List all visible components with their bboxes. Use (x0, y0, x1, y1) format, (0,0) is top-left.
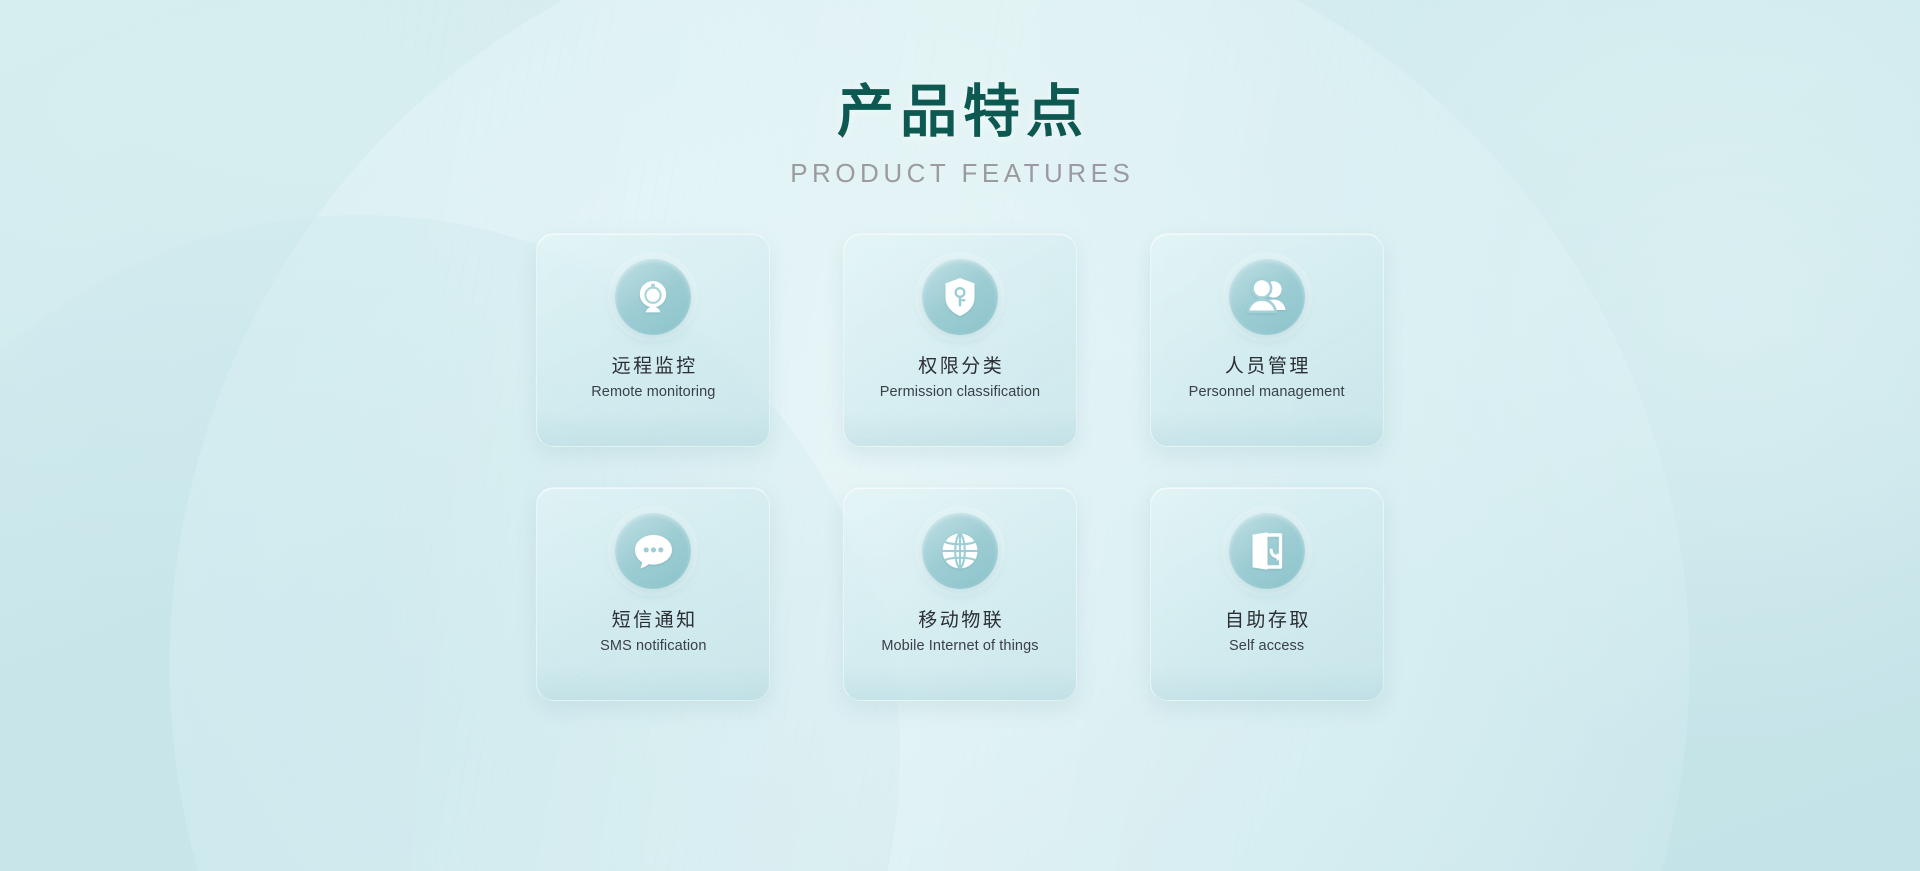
chat-bubble-dots-icon (631, 531, 675, 571)
card-title-cn: 人员管理 (1189, 357, 1345, 376)
users-icon (1244, 276, 1290, 318)
card-title-cn: 权限分类 (880, 357, 1040, 376)
feature-card-slot: 人员管理 Personnel management (1147, 233, 1386, 447)
door-exit-arrow-icon (1246, 530, 1288, 572)
icon-disc (615, 513, 691, 589)
icon-disc (1229, 513, 1305, 589)
feature-card-slot: 移动物联 Mobile Internet of things (841, 487, 1080, 701)
card-labels: 自助存取 Self access (1222, 611, 1311, 654)
feature-card-remote-monitoring[interactable]: 远程监控 Remote monitoring (536, 233, 770, 447)
page-subtitle: PRODUCT FEATURES (0, 158, 1920, 189)
card-title-en: Mobile Internet of things (881, 639, 1038, 654)
feature-card-mobile-iot[interactable]: 移动物联 Mobile Internet of things (843, 487, 1077, 701)
globe-grid-icon (939, 530, 981, 572)
icon-disc (1229, 259, 1305, 335)
card-title-cn: 短信通知 (600, 611, 706, 630)
card-title-cn: 远程监控 (591, 357, 715, 376)
feature-card-slot: 权限分类 Permission classification (841, 233, 1080, 447)
card-title-en: Permission classification (880, 385, 1040, 400)
card-title-cn: 移动物联 (881, 611, 1038, 630)
card-title-en: Personnel management (1189, 385, 1345, 400)
card-labels: 移动物联 Mobile Internet of things (881, 611, 1038, 654)
card-title-cn: 自助存取 (1222, 611, 1311, 630)
feature-card-sms-notification[interactable]: 短信通知 SMS notification (536, 487, 770, 701)
feature-card-slot: 远程监控 Remote monitoring (534, 233, 773, 447)
feature-card-slot: 短信通知 SMS notification (534, 487, 773, 701)
icon-disc (615, 259, 691, 335)
card-title-en: Self access (1222, 639, 1311, 654)
card-labels: 远程监控 Remote monitoring (591, 357, 715, 400)
shield-key-icon (940, 275, 980, 319)
card-labels: 人员管理 Personnel management (1189, 357, 1345, 400)
icon-disc (922, 513, 998, 589)
feature-card-permission-classification[interactable]: 权限分类 Permission classification (843, 233, 1077, 447)
icon-disc (922, 259, 998, 335)
product-features-section: 产品特点 PRODUCT FEATURES 远程监控 Remote mon (0, 0, 1920, 871)
feature-card-slot: 自助存取 Self access (1147, 487, 1386, 701)
page-title: 产品特点 (0, 82, 1920, 144)
section-header: 产品特点 PRODUCT FEATURES (0, 0, 1920, 189)
card-title-en: SMS notification (600, 639, 706, 654)
webcam-icon (632, 276, 674, 318)
card-title-en: Remote monitoring (591, 385, 715, 400)
card-labels: 权限分类 Permission classification (880, 357, 1040, 400)
feature-card-self-access[interactable]: 自助存取 Self access (1150, 487, 1384, 701)
feature-card-grid: 远程监控 Remote monitoring 权限分类 Pe (534, 189, 1386, 701)
feature-card-personnel-management[interactable]: 人员管理 Personnel management (1150, 233, 1384, 447)
card-labels: 短信通知 SMS notification (600, 611, 706, 654)
